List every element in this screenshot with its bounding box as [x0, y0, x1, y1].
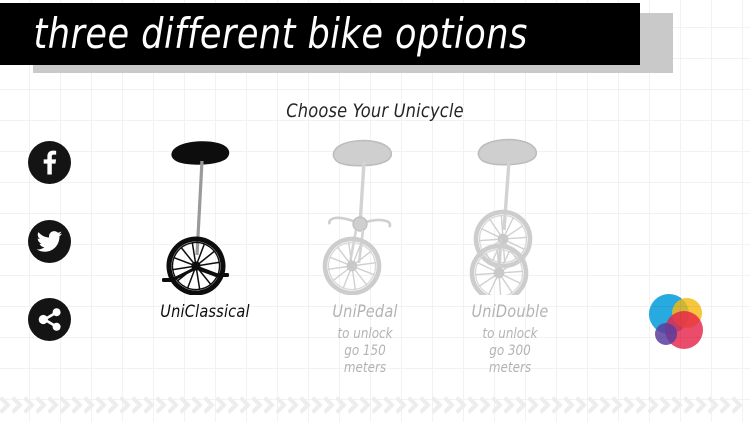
- chevron-icon: [180, 392, 192, 418]
- chevron-icon: [624, 392, 636, 418]
- unicycle-double-icon: [455, 135, 565, 295]
- option-label: UniPedal: [284, 302, 446, 322]
- chevron-icon: [636, 392, 648, 418]
- unlock-line: meters: [429, 360, 591, 377]
- chevron-icon: [396, 392, 408, 418]
- option-label: UniDouble: [429, 302, 591, 322]
- chevron-icon: [12, 392, 24, 418]
- chevron-icon: [300, 392, 312, 418]
- share-icon: [28, 298, 71, 341]
- chevron-icon: [168, 392, 180, 418]
- app-screen: three different bike options Choose Your…: [0, 0, 750, 422]
- chevron-icon: [156, 392, 168, 418]
- chevron-icon: [0, 392, 12, 418]
- chevron-icon: [456, 392, 468, 418]
- chevron-icon: [420, 392, 432, 418]
- unlock-line: to unlock: [284, 326, 446, 343]
- unlock-line: go 150: [284, 343, 446, 360]
- chevron-icon: [600, 392, 612, 418]
- chevron-icon: [432, 392, 444, 418]
- unlock-line: meters: [284, 360, 446, 377]
- chevron-icon: [660, 392, 672, 418]
- chevron-icon: [540, 392, 552, 418]
- chevron-icon: [324, 392, 336, 418]
- page-title: Choose Your Unicycle: [19, 100, 732, 122]
- chevron-icon: [48, 392, 60, 418]
- facebook-icon: [28, 141, 71, 184]
- chevron-icon: [288, 392, 300, 418]
- chevron-icon: [228, 392, 240, 418]
- chevron-icon: [516, 392, 528, 418]
- chevron-icon: [408, 392, 420, 418]
- chevron-icon: [264, 392, 276, 418]
- chevron-icon: [708, 392, 720, 418]
- chevron-icon: [216, 392, 228, 418]
- chevron-icon: [492, 392, 504, 418]
- option-unlock-hint: to unlock go 150 meters: [284, 326, 446, 377]
- unicycle-classic-icon: [150, 135, 260, 295]
- chevron-icon: [480, 392, 492, 418]
- chevron-icon: [468, 392, 480, 418]
- banner-title: three different bike options: [0, 13, 528, 55]
- title-banner: three different bike options: [0, 3, 640, 65]
- chevron-icon: [444, 392, 456, 418]
- chevron-icon: [528, 392, 540, 418]
- bike-option-uniclassical[interactable]: UniClassical: [120, 135, 290, 322]
- chevron-icon: [108, 392, 120, 418]
- option-unlock-hint: to unlock go 300 meters: [429, 326, 591, 377]
- chevron-icon: [204, 392, 216, 418]
- social-button-share[interactable]: [28, 298, 71, 341]
- chevron-icon: [348, 392, 360, 418]
- chevron-icon: [96, 392, 108, 418]
- chevron-icon: [612, 392, 624, 418]
- overlapping-circles-icon: [646, 292, 710, 354]
- unlock-line: to unlock: [429, 326, 591, 343]
- chevron-icon: [732, 392, 744, 418]
- bike-option-unidouble[interactable]: UniDouble to unlock go 300 meters: [425, 135, 595, 377]
- unicycle-pedal-icon: [310, 135, 420, 295]
- chevron-icon: [276, 392, 288, 418]
- chevron-icon: [132, 392, 144, 418]
- chevron-icon: [144, 392, 156, 418]
- option-label: UniClassical: [124, 302, 286, 322]
- color-circles-logo[interactable]: [646, 292, 710, 354]
- chevron-icon: [372, 392, 384, 418]
- twitter-icon: [28, 220, 71, 263]
- chevron-icon: [192, 392, 204, 418]
- chevron-strip: [0, 392, 750, 418]
- chevron-icon: [684, 392, 696, 418]
- chevron-icon: [564, 392, 576, 418]
- chevron-icon: [576, 392, 588, 418]
- unlock-line: go 300: [429, 343, 591, 360]
- social-button-twitter[interactable]: [28, 220, 71, 263]
- unicycle-classic-art: [120, 135, 290, 295]
- chevron-icon: [672, 392, 684, 418]
- chevron-icon: [84, 392, 96, 418]
- chevron-icon: [588, 392, 600, 418]
- chevron-icon: [60, 392, 72, 418]
- chevron-icon: [648, 392, 660, 418]
- chevron-icon: [240, 392, 252, 418]
- chevron-icon: [696, 392, 708, 418]
- chevron-icon: [504, 392, 516, 418]
- chevron-icon: [360, 392, 372, 418]
- chevron-icon: [36, 392, 48, 418]
- chevron-icon: [24, 392, 36, 418]
- chevron-icon: [252, 392, 264, 418]
- chevron-icon: [72, 392, 84, 418]
- chevron-icon: [336, 392, 348, 418]
- unicycle-double-art: [425, 135, 595, 295]
- chevron-icon: [720, 392, 732, 418]
- chevron-icon: [552, 392, 564, 418]
- chevron-icon: [312, 392, 324, 418]
- social-button-facebook[interactable]: [28, 141, 71, 184]
- chevron-icon: [384, 392, 396, 418]
- chevron-icon: [120, 392, 132, 418]
